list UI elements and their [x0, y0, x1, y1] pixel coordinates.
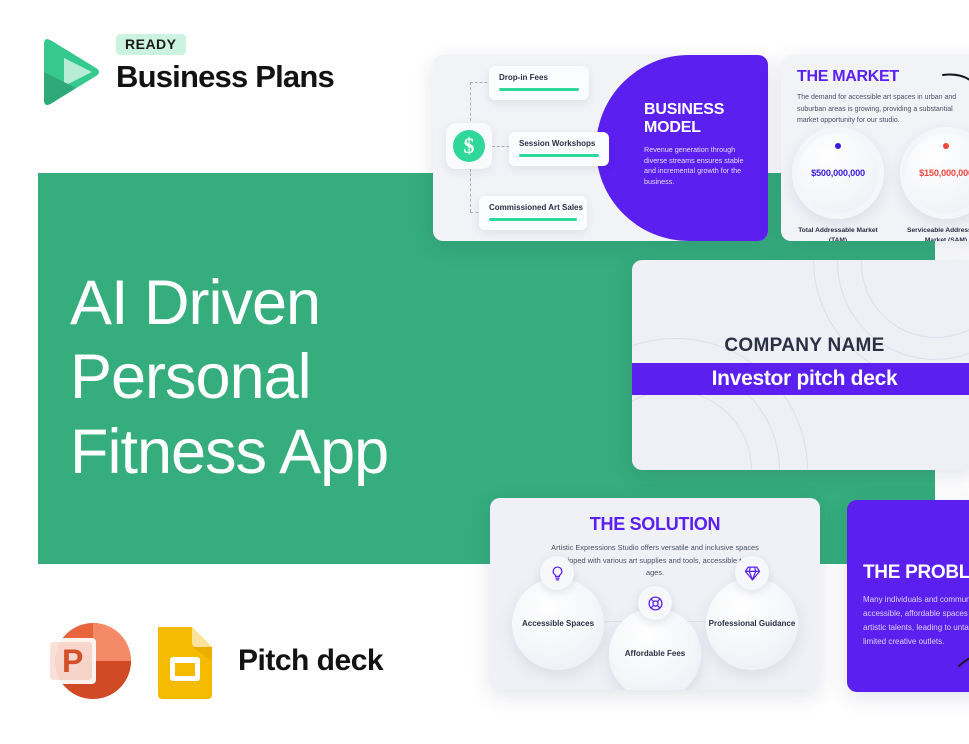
underline-bar: [499, 88, 579, 91]
preview-canvas: READY Business Plans AI Driven Personal …: [0, 0, 969, 744]
brand-logo: READY Business Plans: [40, 34, 370, 114]
business-model-purple-shape: BUSINESS MODEL Revenue generation throug…: [596, 55, 768, 241]
underline-bar: [489, 218, 577, 221]
gauge-dot: [943, 143, 949, 149]
gauge-value: $500,000,000: [811, 168, 865, 178]
market-title: THE MARKET: [797, 68, 899, 86]
page-title: AI Driven Personal Fitness App: [70, 266, 500, 489]
solution-desc: Artistic Expressions Studio offers versa…: [548, 542, 762, 580]
brand-logo-text: READY Business Plans: [116, 34, 366, 94]
solution-node[interactable]: Professional Guidance: [706, 578, 798, 670]
lifebuoy-icon: [638, 586, 672, 620]
revenue-stream-card[interactable]: Drop-in Fees: [489, 66, 589, 100]
solution-node-label: Affordable Fees: [625, 648, 685, 660]
pitch-deck-label: Pitch deck: [238, 644, 383, 678]
revenue-stream-label: Commissioned Art Sales: [489, 203, 577, 212]
gauge-caption: Serviceable Addressable Market (SAM): [897, 226, 969, 241]
problem-desc: Many individuals and communities lack ac…: [863, 593, 969, 649]
play-triangle-logo-icon: [40, 36, 102, 108]
slide-the-solution[interactable]: THE SOLUTION Artistic Expressions Studio…: [490, 498, 820, 690]
market-gauge: $500,000,000 Total Addressable Market (T…: [789, 127, 887, 241]
revenue-stream-card[interactable]: Commissioned Art Sales: [479, 196, 587, 230]
company-name: COMPANY NAME: [632, 335, 969, 357]
market-desc: The demand for accessible art spaces in …: [797, 92, 957, 127]
revenue-stream-label: Drop-in Fees: [499, 73, 579, 82]
ready-badge: READY: [116, 34, 186, 55]
brand-name: Business Plans: [116, 60, 366, 94]
revenue-icon-tile: $: [446, 123, 492, 169]
solution-node-label: Accessible Spaces: [522, 618, 594, 630]
market-gauge: $150,000,000 Serviceable Addressable Mar…: [897, 127, 969, 241]
slide-the-market[interactable]: THE MARKET The demand for accessible art…: [781, 55, 969, 241]
gauge-value: $150,000,000: [919, 168, 969, 178]
dollar-icon: $: [453, 130, 485, 162]
revenue-stream-label: Session Workshops: [519, 139, 599, 148]
solution-node[interactable]: Affordable Fees: [609, 608, 701, 690]
investor-pitch-label: Investor pitch deck: [712, 367, 898, 391]
investor-pitch-band: Investor pitch deck: [632, 363, 969, 395]
problem-title: THE PROBLEM: [863, 562, 969, 584]
revenue-stream-card[interactable]: Session Workshops: [509, 132, 609, 166]
format-icons-bar: P Pitch deck: [40, 620, 383, 702]
powerpoint-icon: P: [40, 620, 132, 702]
swoosh-decoration-icon: [957, 642, 969, 672]
solution-title: THE SOLUTION: [490, 514, 820, 535]
solution-node[interactable]: Accessible Spaces: [512, 578, 604, 670]
slide-the-problem[interactable]: THE PROBLEM Many individuals and communi…: [847, 500, 969, 692]
gauge-caption: Total Addressable Market (TAM): [789, 226, 887, 241]
gauge-dot: [835, 143, 841, 149]
solution-node-label: Professional Guidance: [709, 618, 796, 630]
slide-company-name[interactable]: COMPANY NAME Investor pitch deck: [632, 260, 969, 470]
lightbulb-icon: [540, 556, 574, 590]
solution-nodes: Accessible Spaces Affordable Fees P: [490, 586, 820, 686]
curved-arrow-icon: [941, 69, 969, 117]
business-model-title: BUSINESS MODEL: [644, 101, 756, 138]
business-model-desc: Revenue generation through diverse strea…: [644, 145, 756, 188]
google-slides-icon: [154, 623, 216, 699]
connector-vertical-bottom: [470, 168, 471, 212]
svg-text:P: P: [62, 643, 83, 679]
diamond-icon: [735, 556, 769, 590]
underline-bar: [519, 154, 599, 157]
market-gauges: $500,000,000 Total Addressable Market (T…: [789, 127, 969, 241]
